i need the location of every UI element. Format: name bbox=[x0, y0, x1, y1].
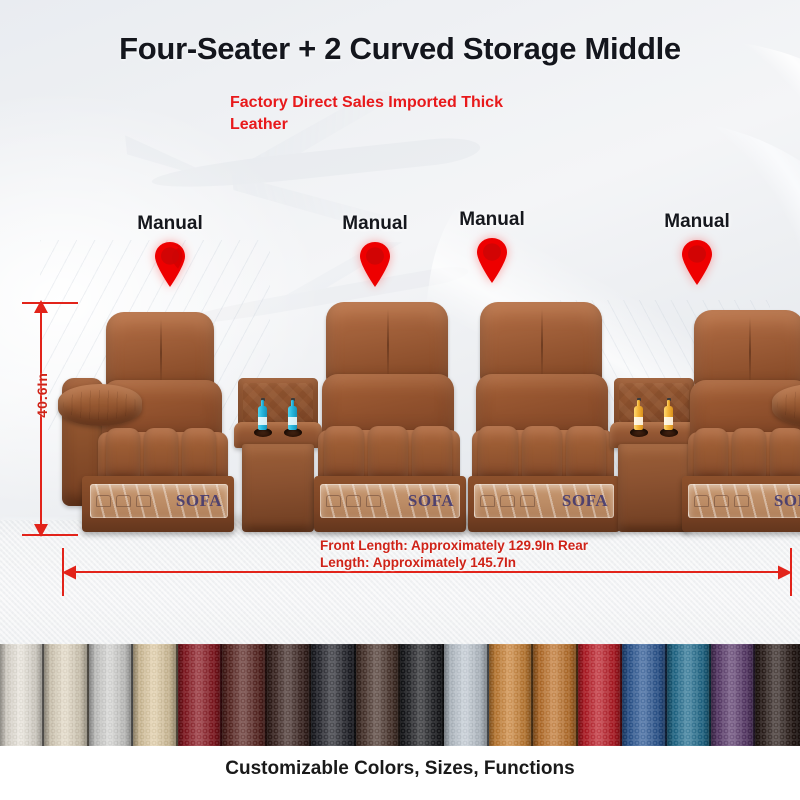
map-pin-icon bbox=[680, 239, 714, 285]
sofa-print-4: SOFA bbox=[774, 491, 800, 511]
seat-2: SOFA bbox=[314, 302, 470, 532]
swatch-maroon[interactable] bbox=[222, 644, 266, 746]
packaging-wrap-3: SOFA bbox=[474, 484, 614, 518]
swatch-ivory-white[interactable] bbox=[0, 644, 44, 746]
packaging-wrap-4: SOFA bbox=[688, 484, 800, 518]
manual-marker-4: Manual bbox=[637, 212, 757, 285]
map-pin-icon bbox=[475, 237, 509, 283]
bottle-right-1 bbox=[634, 400, 643, 430]
manual-marker-2: Manual bbox=[315, 214, 435, 287]
seat-4: SOFA bbox=[688, 306, 800, 532]
product-scene: SOFA bbox=[0, 0, 800, 644]
swatch-royal-blue[interactable] bbox=[622, 644, 666, 746]
map-pin-icon bbox=[153, 241, 187, 287]
seat-3: SOFA bbox=[466, 302, 622, 532]
swatch-black[interactable] bbox=[400, 644, 444, 746]
swatch-orange-tan[interactable] bbox=[489, 644, 533, 746]
bottle-right-2 bbox=[664, 400, 673, 430]
swatch-cream[interactable] bbox=[44, 644, 88, 746]
swatch-burnt-orange[interactable] bbox=[533, 644, 577, 746]
swatch-beige-tan[interactable] bbox=[133, 644, 177, 746]
arrow-left-icon bbox=[62, 565, 77, 580]
sofa-product: SOFA bbox=[62, 296, 790, 532]
arrow-right-icon bbox=[777, 565, 792, 580]
swatch-teal-blue[interactable] bbox=[667, 644, 711, 746]
bottle-left-2 bbox=[288, 400, 297, 430]
swatch-dark-red[interactable] bbox=[178, 644, 222, 746]
sofa-print-1: SOFA bbox=[176, 491, 222, 511]
manual-label-1: Manual bbox=[110, 214, 230, 233]
swatch-navy-black[interactable] bbox=[311, 644, 355, 746]
swatch-light-grey[interactable] bbox=[89, 644, 133, 746]
length-dimension-label: Front Length: Approximately 129.9In Rear… bbox=[320, 538, 620, 572]
swatch-purple[interactable] bbox=[711, 644, 755, 746]
packaging-wrap-2: SOFA bbox=[320, 484, 460, 518]
product-infographic: SOFA bbox=[0, 0, 800, 800]
swatch-dark-brown[interactable] bbox=[267, 644, 311, 746]
leather-swatch-strip bbox=[0, 644, 800, 746]
packaging-wrap-1: SOFA bbox=[90, 484, 228, 518]
sofa-print-3: SOFA bbox=[562, 491, 608, 511]
storage-console-left bbox=[234, 334, 322, 532]
manual-label-3: Manual bbox=[432, 210, 552, 229]
page-title: Four-Seater + 2 Curved Storage Middle bbox=[0, 32, 800, 66]
page-subtitle: Factory Direct Sales Imported Thick Leat… bbox=[230, 92, 560, 135]
swatch-red[interactable] bbox=[578, 644, 622, 746]
manual-label-2: Manual bbox=[315, 214, 435, 233]
care-symbols-icon bbox=[96, 495, 151, 507]
care-symbols-icon bbox=[694, 495, 749, 507]
care-symbols-icon bbox=[326, 495, 381, 507]
sofa-print-2: SOFA bbox=[408, 491, 454, 511]
manual-label-4: Manual bbox=[637, 212, 757, 231]
manual-marker-3: Manual bbox=[432, 210, 552, 283]
swatch-brown[interactable] bbox=[356, 644, 400, 746]
arrow-up-icon bbox=[33, 300, 49, 314]
bottle-left-1 bbox=[258, 400, 267, 430]
seat-1: SOFA bbox=[62, 306, 258, 532]
map-pin-icon bbox=[358, 241, 392, 287]
swatch-pale-blue-grey[interactable] bbox=[444, 644, 488, 746]
height-dimension-label: 40.6In bbox=[34, 372, 52, 418]
swatch-espresso[interactable] bbox=[755, 644, 799, 746]
arrow-down-icon bbox=[33, 523, 49, 537]
swatch-caption: Customizable Colors, Sizes, Functions bbox=[0, 758, 800, 780]
care-symbols-icon bbox=[480, 495, 535, 507]
manual-marker-1: Manual bbox=[110, 214, 230, 287]
